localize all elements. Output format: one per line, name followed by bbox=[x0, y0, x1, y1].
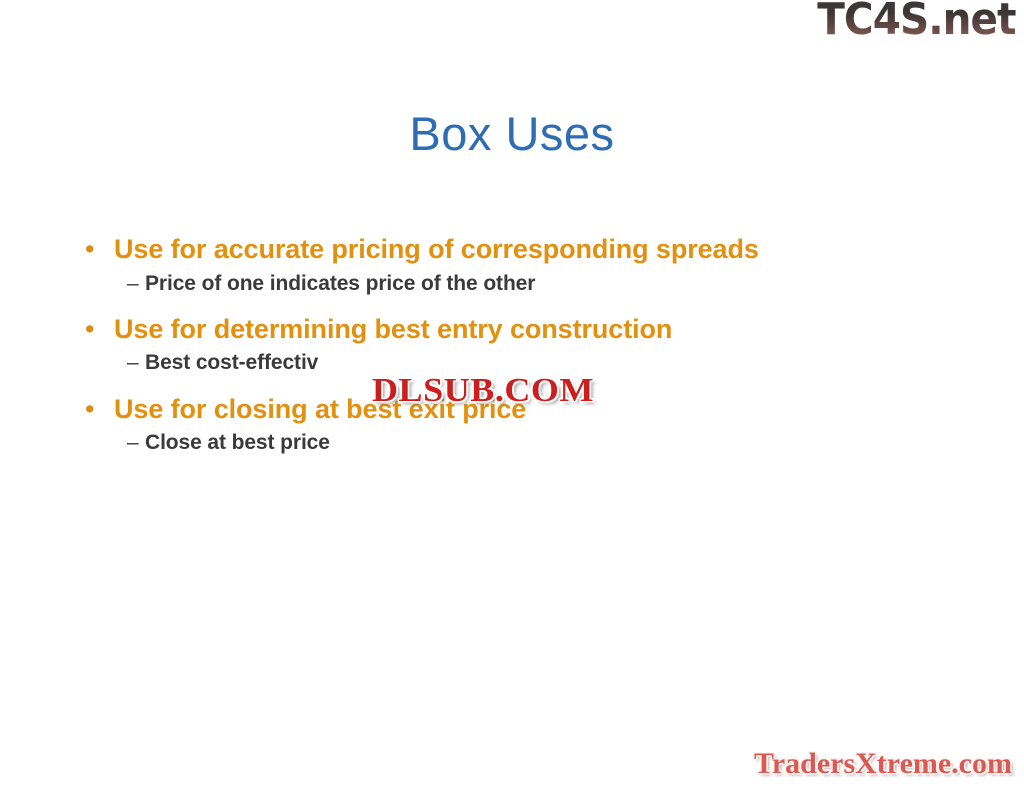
bullet-dot-icon: • bbox=[78, 396, 114, 423]
bullet-dash-icon: – bbox=[78, 432, 127, 453]
slide-body-content: • Use for accurate pricing of correspond… bbox=[78, 232, 958, 458]
presentation-slide: TC4S.net TC4S.net Box Uses • Use for acc… bbox=[0, 0, 1024, 791]
bullet-spacer bbox=[78, 298, 958, 312]
bullet-dot-icon: • bbox=[78, 316, 114, 343]
bullet-text: Close at best price bbox=[127, 429, 330, 456]
bullet-text: Price of one indicates price of the othe… bbox=[127, 270, 535, 297]
bullet-item-level2: – Price of one indicates price of the ot… bbox=[78, 270, 958, 297]
dlsub-watermark: DLSUB.COM bbox=[372, 374, 594, 408]
bullet-dot-icon: • bbox=[78, 236, 114, 263]
bullet-item-level1: • Use for accurate pricing of correspond… bbox=[78, 232, 958, 267]
bullet-item-level2: – Close at best price bbox=[78, 429, 958, 456]
bullet-text: Best cost-effectiv bbox=[127, 349, 318, 376]
top-brand-logo: TC4S.net bbox=[818, 0, 1016, 42]
bullet-text: Use for determining best entry construct… bbox=[114, 312, 672, 347]
footer-brand-logo: TradersXtreme.com bbox=[754, 749, 1012, 779]
bullet-dash-icon: – bbox=[78, 273, 127, 294]
bullet-text: Use for accurate pricing of correspondin… bbox=[114, 232, 759, 267]
bullet-dash-icon: – bbox=[78, 352, 127, 373]
bullet-item-level1: • Use for determining best entry constru… bbox=[78, 312, 958, 347]
slide-title: Box Uses bbox=[0, 108, 1024, 160]
